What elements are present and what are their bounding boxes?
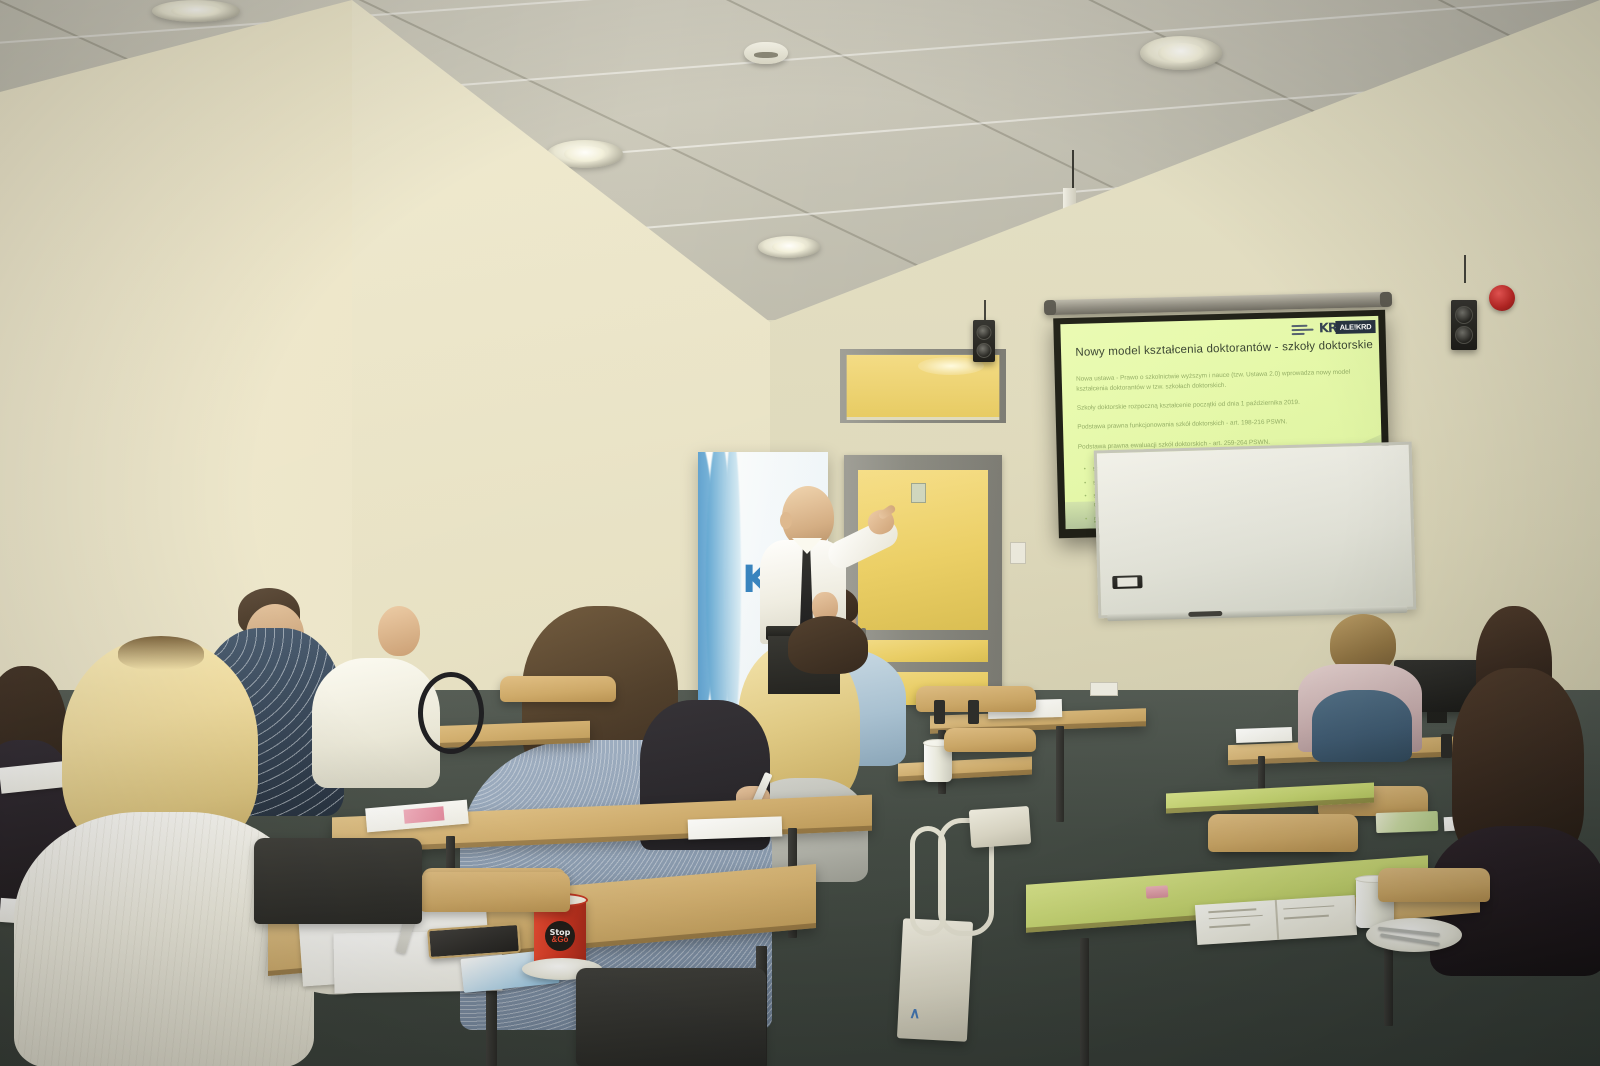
canvas-tote-bag: ∧ bbox=[897, 918, 973, 1041]
wall-switch[interactable] bbox=[1010, 542, 1026, 564]
desk-hook bbox=[1441, 734, 1452, 758]
fire-alarm-bell-icon bbox=[1489, 285, 1515, 311]
ceiling-downlight-icon bbox=[152, 0, 240, 22]
slide-paragraph: Nowa ustawa - Prawo o szkolnictwie wyższ… bbox=[1076, 368, 1363, 394]
krd-badge: ALE!KRD bbox=[1336, 320, 1376, 334]
wall-speaker-icon bbox=[1451, 300, 1477, 350]
tote-print: ∧ bbox=[909, 1004, 921, 1023]
canvas-tote-bag bbox=[969, 806, 1032, 848]
desk-hook bbox=[934, 700, 945, 724]
loose-papers bbox=[688, 816, 783, 839]
whiteboard-eraser[interactable] bbox=[1113, 575, 1143, 589]
power-outlet-icon bbox=[1090, 682, 1118, 696]
ceiling-downlight-icon bbox=[1140, 36, 1222, 70]
tote-handle bbox=[910, 826, 946, 936]
classroom-presentation-photo: KRD ALE!KRD Nowy model kształcenia dokto… bbox=[0, 0, 1600, 1066]
chair-back[interactable] bbox=[254, 838, 422, 924]
attendee-denim-vest bbox=[1312, 690, 1412, 762]
chair-back[interactable] bbox=[944, 728, 1036, 752]
chair-back[interactable] bbox=[500, 676, 616, 702]
attendee-short-dark-hair bbox=[788, 616, 868, 674]
attendee-white-top-head bbox=[378, 606, 420, 656]
whiteboard bbox=[1094, 442, 1417, 619]
chair-back[interactable] bbox=[1378, 868, 1490, 902]
patterned-item bbox=[1376, 811, 1439, 833]
desk-leg bbox=[486, 982, 497, 1066]
attendee-front-blonde-roots bbox=[118, 636, 204, 670]
krd-bars-icon bbox=[1292, 324, 1314, 335]
cup-brand-line2: &Go bbox=[552, 936, 569, 943]
speaker-wire bbox=[984, 300, 986, 322]
slide-paragraph: Szkoły doktorskie rozpoczną kształcenie … bbox=[1077, 396, 1363, 413]
door-sign bbox=[911, 483, 926, 503]
presenter-ear bbox=[780, 512, 792, 529]
bag-strap bbox=[418, 672, 484, 754]
whiteboard-marker[interactable] bbox=[1189, 611, 1223, 617]
speaker-wire bbox=[1464, 255, 1466, 283]
slide-title: Nowy model kształcenia doktorantów - szk… bbox=[1075, 339, 1373, 359]
stop-and-go-logo: Stop &Go bbox=[545, 921, 575, 951]
desk-leg bbox=[1056, 726, 1064, 822]
pink-eraser bbox=[1146, 885, 1169, 899]
desk-hook bbox=[968, 700, 979, 724]
chair-back[interactable] bbox=[420, 872, 570, 912]
desk-leg bbox=[1080, 938, 1089, 1066]
chair-back[interactable] bbox=[576, 968, 766, 1066]
wall-speaker-icon bbox=[973, 320, 995, 362]
slide-paragraph: Podstawa prawna funkcjonowania szkół dok… bbox=[1077, 416, 1363, 433]
smoke-detector-icon bbox=[744, 42, 788, 64]
ceiling-downlight-icon bbox=[758, 236, 820, 258]
chair-back[interactable] bbox=[1208, 814, 1358, 852]
loose-papers bbox=[1236, 727, 1292, 743]
